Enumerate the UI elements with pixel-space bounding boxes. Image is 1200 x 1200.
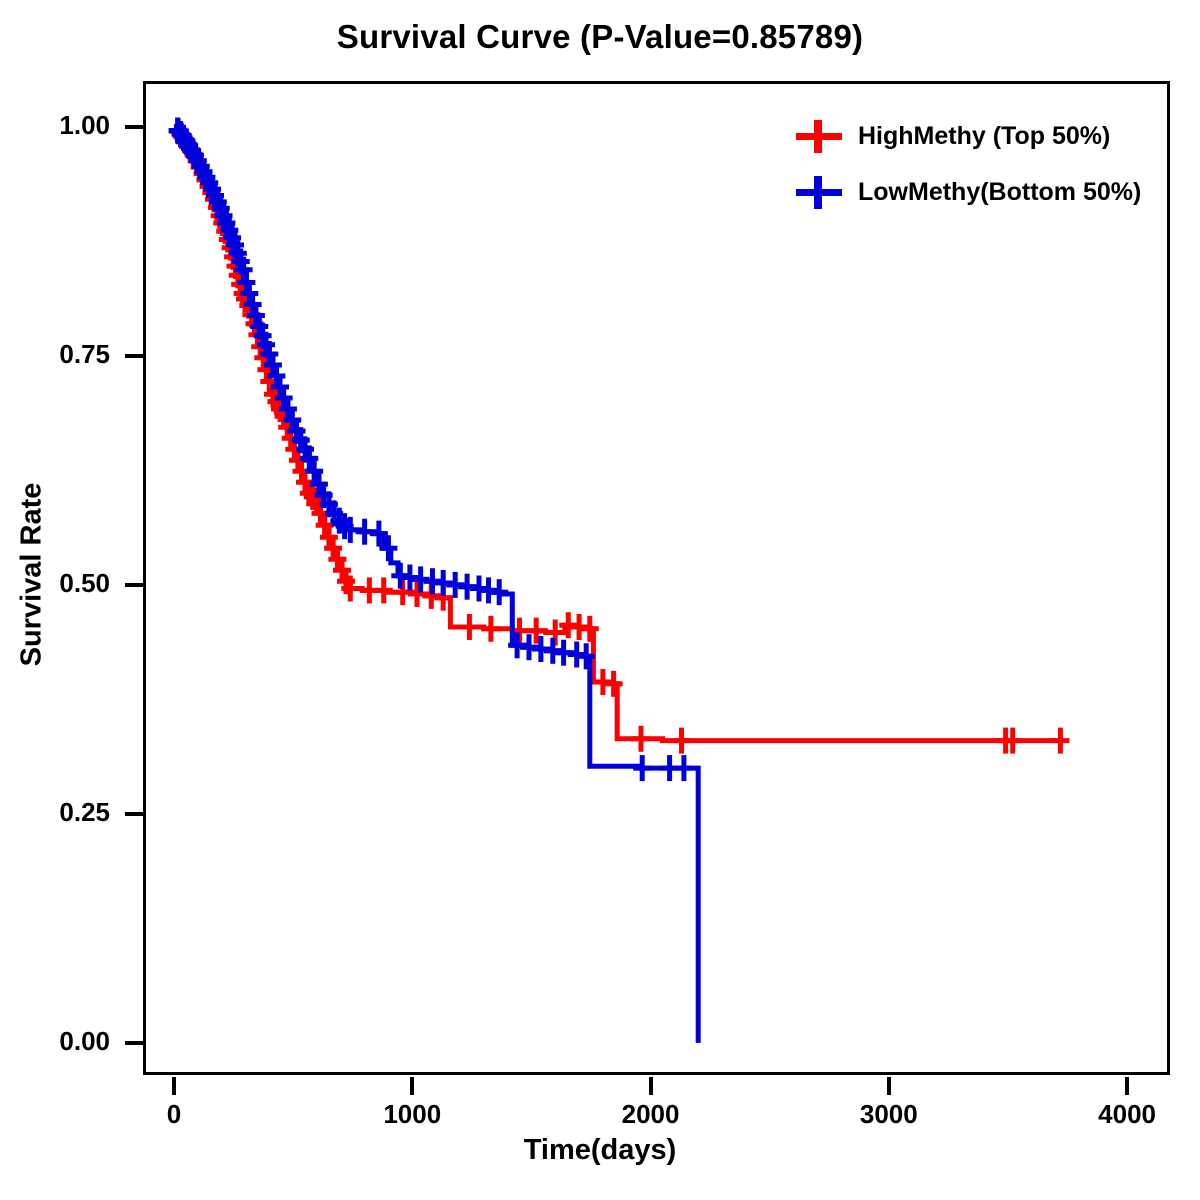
x-tickmark <box>410 1077 414 1095</box>
legend-label-low: LowMethy(Bottom 50%) <box>852 178 1141 207</box>
y-tick-label: 0.25 <box>0 797 110 828</box>
plot-frame <box>143 81 1170 1075</box>
legend-item-low[interactable]: LowMethy(Bottom 50%) <box>790 164 1170 220</box>
legend-label-high: HighMethy (Top 50%) <box>852 122 1110 151</box>
x-tickmark <box>649 1077 653 1095</box>
x-tickmark <box>1125 1077 1129 1095</box>
x-axis-label: Time(days) <box>0 1134 1200 1167</box>
y-tickmark <box>125 583 143 587</box>
x-tick-label: 4000 <box>1057 1099 1197 1130</box>
y-tick-label: 1.00 <box>0 110 110 141</box>
x-tick-label: 2000 <box>581 1099 721 1130</box>
plus-marker-icon <box>790 172 852 212</box>
plus-marker-icon <box>790 116 852 156</box>
y-tickmark <box>125 125 143 129</box>
x-tick-label: 3000 <box>819 1099 959 1130</box>
chart-title: Survival Curve (P-Value=0.85789) <box>0 18 1200 56</box>
x-tick-label: 0 <box>104 1099 244 1130</box>
plot-area <box>143 81 1170 1075</box>
legend: HighMethy (Top 50%) LowMethy(Bottom 50%) <box>790 108 1170 220</box>
y-tickmark <box>125 354 143 358</box>
x-tickmark <box>887 1077 891 1095</box>
chart-root: Survival Curve (P-Value=0.85789) Surviva… <box>0 0 1200 1200</box>
x-tick-label: 1000 <box>342 1099 482 1130</box>
y-tick-label: 0.75 <box>0 339 110 370</box>
legend-item-high[interactable]: HighMethy (Top 50%) <box>790 108 1170 164</box>
y-tickmark <box>125 1041 143 1045</box>
y-tickmark <box>125 812 143 816</box>
x-tickmark <box>172 1077 176 1095</box>
y-tick-label: 0.00 <box>0 1026 110 1057</box>
y-tick-label: 0.50 <box>0 568 110 599</box>
